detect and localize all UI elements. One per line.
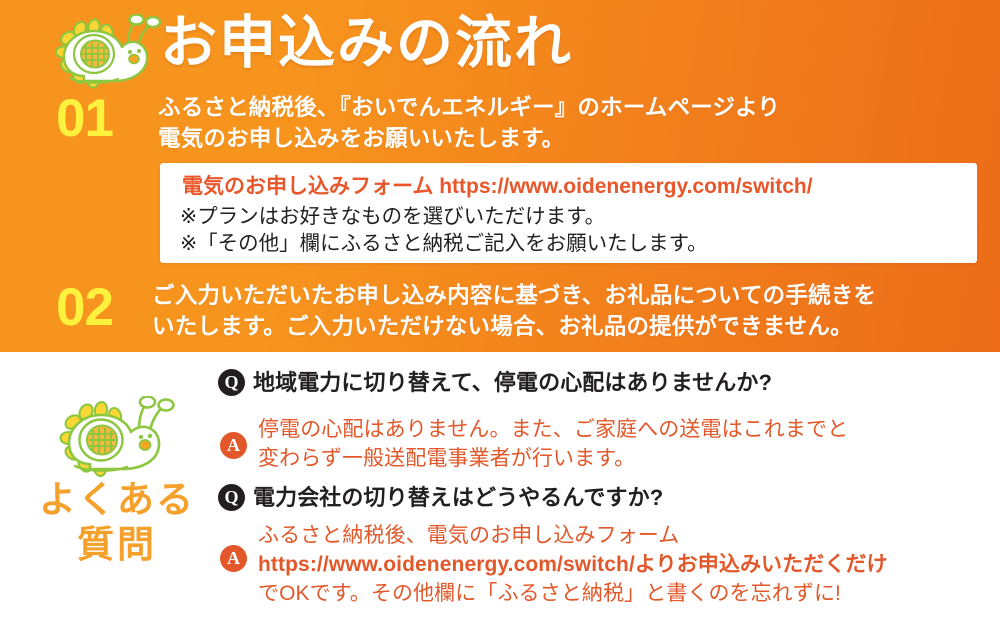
faq-question-2: 電力会社の切り替えはどうやるんですか? — [253, 483, 663, 512]
answer-badge: A — [220, 545, 247, 572]
page-title: お申込みの流れ — [160, 12, 573, 74]
step-number-02: 02 — [56, 281, 113, 334]
promo-page: お申込みの流れ 01 ふるさと納税後、『おいでんエネルギー』のホームページより … — [0, 0, 1000, 621]
faq-answer-1-line-1: 停電の心配はありません。また、ご家庭への送電はこれまでと — [258, 415, 848, 444]
faq-answer-2-line-2[interactable]: https://www.oidenenergy.com/switch/よりお申込… — [258, 550, 888, 579]
faq-label-line-2: 質問 — [22, 522, 212, 568]
sunflower-snail-mascot-icon — [48, 14, 166, 90]
step-description-01: ふるさと納税後、『おいでんエネルギー』のホームページより 電気のお申し込みをお願… — [158, 92, 988, 154]
faq-label-line-1: よくある — [22, 478, 212, 522]
faq-answer-1-line-2: 変わらず一般送配電事業者が行います。 — [258, 444, 848, 473]
step-number-01: 01 — [56, 92, 113, 145]
form-url-link[interactable]: https://www.oidenenergy.com/switch/ — [439, 175, 812, 198]
faq-answer-2: ふるさと納税後、電気のお申し込みフォーム https://www.oidenen… — [258, 521, 888, 608]
application-flow-panel: お申込みの流れ 01 ふるさと納税後、『おいでんエネルギー』のホームページより … — [0, 0, 1000, 352]
form-note-2: ※「その他」欄にふるさと納税ご記入をお願いたします。 — [180, 230, 708, 257]
answer-badge: A — [220, 432, 247, 459]
step-01-line-2: 電気のお申し込みをお願いいたします。 — [158, 123, 988, 154]
form-url-line: 電気のお申し込みフォーム https://www.oidenenergy.com… — [182, 173, 813, 201]
form-note-1: ※プランはお好きなものを選びいただけます。 — [180, 203, 605, 230]
application-form-info-box: 電気のお申し込みフォーム https://www.oidenenergy.com… — [160, 163, 977, 263]
step-02-line-2: いたします。ご入力いただけない場合、お礼品の提供ができません。 — [152, 311, 992, 342]
faq-question-1: 地域電力に切り替えて、停電の心配はありませんか? — [253, 368, 772, 397]
faq-answer-1: 停電の心配はありません。また、ご家庭への送電はこれまでと 変わらず一般送配電事業… — [258, 415, 848, 473]
question-badge: Q — [218, 484, 245, 511]
step-description-02: ご入力いただいたお申し込み内容に基づき、お礼品についての手続きを いたします。ご… — [152, 280, 992, 342]
faq-sunflower-snail-mascot-icon — [52, 396, 180, 480]
faq-answer-2-line-1: ふるさと納税後、電気のお申し込みフォーム — [258, 521, 888, 550]
form-label: 電気のお申し込みフォーム — [182, 175, 433, 198]
step-02-line-1: ご入力いただいたお申し込み内容に基づき、お礼品についての手続きを — [152, 280, 992, 311]
question-badge: Q — [218, 369, 245, 396]
faq-answer-2-line-3: でOKです。その他欄に「ふるさと納税」と書くのを忘れずに! — [258, 579, 888, 608]
faq-label: よくある 質問 — [22, 478, 212, 568]
step-01-line-1: ふるさと納税後、『おいでんエネルギー』のホームページより — [158, 92, 988, 123]
